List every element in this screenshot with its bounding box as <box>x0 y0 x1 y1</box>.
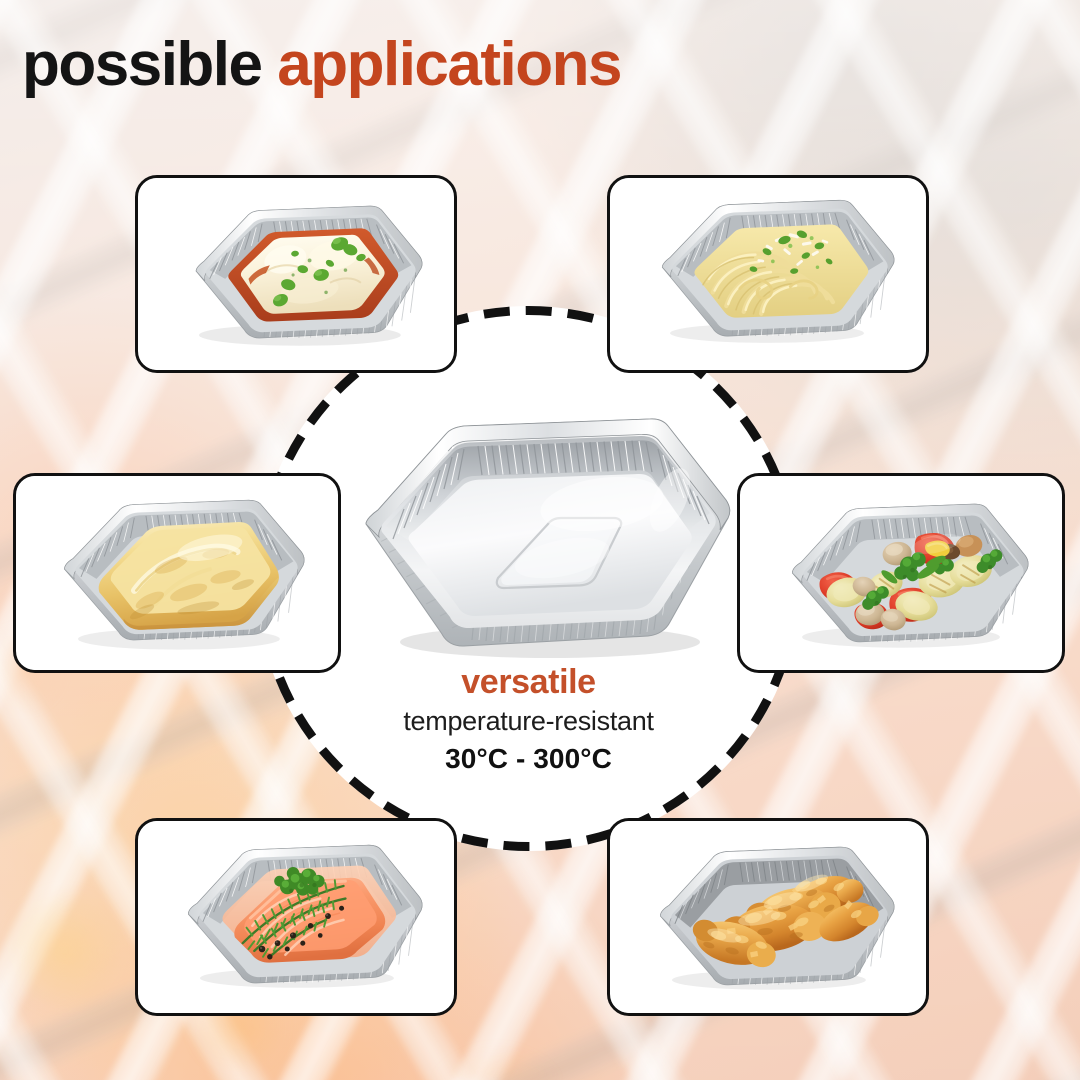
application-card-salmon[interactable] <box>135 818 457 1016</box>
title-word-possible: possible <box>22 30 262 99</box>
pasta-photo <box>610 178 926 370</box>
application-card-vegetables[interactable] <box>737 473 1065 673</box>
lasagna-photo <box>138 178 454 370</box>
grilled-vegetables-photo <box>740 476 1062 670</box>
application-card-fried-chicken[interactable] <box>607 818 929 1016</box>
application-card-lasagna[interactable] <box>135 175 457 373</box>
cake-photo <box>16 476 338 670</box>
hero-aluminum-tray <box>352 408 738 658</box>
page-title: possible applications <box>22 34 621 96</box>
caption-temperature-range: 30°C - 300°C <box>256 741 801 777</box>
salmon-photo <box>138 821 454 1013</box>
center-caption-block: versatile temperature-resistant 30°C - 3… <box>256 662 801 777</box>
caption-subline: temperature-resistant <box>256 704 801 740</box>
application-card-cake[interactable] <box>13 473 341 673</box>
caption-headline: versatile <box>256 662 801 702</box>
application-card-pasta[interactable] <box>607 175 929 373</box>
fried-chicken-photo <box>610 821 926 1013</box>
title-word-applications: applications <box>277 30 621 99</box>
